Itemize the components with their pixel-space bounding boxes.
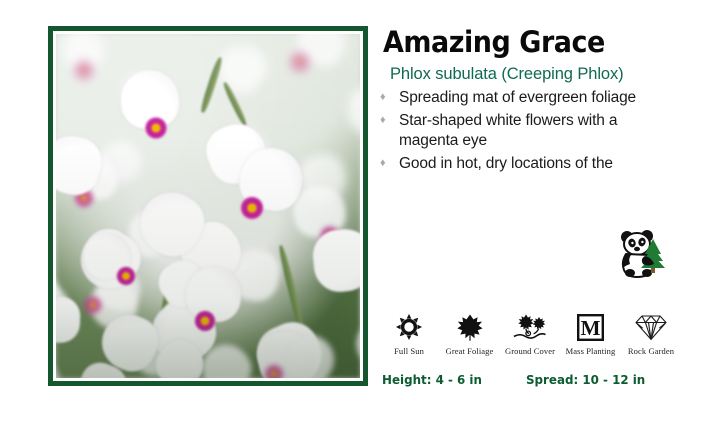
plant-photo [56, 34, 360, 378]
attribute-full-sun: Full Sun [380, 312, 438, 356]
height-label: Height: 4 - 6 in [382, 372, 482, 387]
list-item: ♦ Good in hot, dry locations of the [378, 154, 678, 175]
panda-hugging-tree-logo [614, 228, 668, 278]
attribute-ground-cover: Ground Cover [501, 312, 559, 356]
attribute-icon-row: Full Sun Great Foliage [380, 312, 680, 356]
sun-icon [380, 312, 438, 342]
diamond-bullet-icon: ♦ [380, 158, 386, 169]
info-panel: Amazing Grace Phlox subulata (Creeping P… [378, 0, 708, 422]
list-item-label: Spreading mat of evergreen foliage [399, 88, 678, 109]
attribute-label: Mass Planting [562, 346, 620, 356]
attribute-label: Full Sun [380, 346, 438, 356]
attribute-rock-garden: Rock Garden [622, 312, 680, 356]
mass-planting-m-icon: M [562, 312, 620, 342]
ground-cover-icon [501, 312, 559, 342]
list-item: ♦ Spreading mat of evergreen foliage [378, 88, 678, 109]
attribute-great-foliage: Great Foliage [441, 312, 499, 356]
diamond-gem-icon [622, 312, 680, 342]
list-item-label: Good in hot, dry locations of the [399, 154, 678, 175]
attribute-label: Ground Cover [501, 346, 559, 356]
page-title: Amazing Grace [383, 26, 605, 58]
photo-vignette [56, 34, 360, 378]
feature-list: ♦ Spreading mat of evergreen foliage ♦ S… [378, 88, 678, 176]
list-item: ♦ Star-shaped white flowers with a magen… [378, 111, 678, 152]
diamond-bullet-icon: ♦ [380, 92, 386, 103]
diamond-bullet-icon: ♦ [380, 115, 386, 126]
spread-label: Spread: 10 - 12 in [526, 372, 645, 387]
list-item-label: Star-shaped white flowers with a magenta… [399, 111, 678, 152]
svg-text:M: M [581, 316, 601, 340]
attribute-mass-planting: M Mass Planting [562, 312, 620, 356]
attribute-label: Rock Garden [622, 346, 680, 356]
leaf-icon [441, 312, 499, 342]
attribute-label: Great Foliage [441, 346, 499, 356]
plant-tag: Amazing Grace Phlox subulata (Creeping P… [0, 0, 720, 422]
botanical-name: Phlox subulata (Creeping Phlox) [390, 64, 624, 84]
plant-photo-frame [48, 26, 368, 386]
